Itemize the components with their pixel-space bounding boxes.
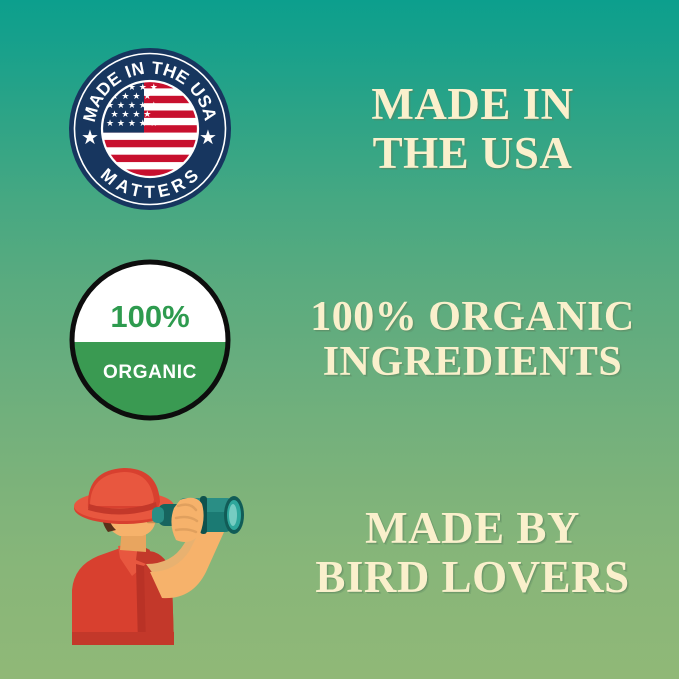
- feature-row-bird-lovers: MADE BY BIRD LOVERS: [0, 455, 679, 650]
- star-right-icon: ★: [199, 125, 217, 149]
- headline-line-1: 100% ORGANIC: [310, 295, 635, 340]
- headline-line-2: INGREDIENTS: [310, 340, 635, 385]
- made-in-usa-icon-slot: ★ ★ ★ ★ ★ ★ ★ ★ ★ ★ ★ ★ ★ ★ ★ ★ ★ ★ ★ ★ …: [0, 47, 300, 211]
- organic-badge-percent: 100%: [110, 299, 189, 334]
- birdwatcher-icon-slot: [0, 460, 300, 645]
- feature-highlights-canvas: ★ ★ ★ ★ ★ ★ ★ ★ ★ ★ ★ ★ ★ ★ ★ ★ ★ ★ ★ ★ …: [0, 0, 679, 679]
- bird-lovers-text-slot: MADE BY BIRD LOVERS: [300, 504, 679, 601]
- feature-row-made-in-usa: ★ ★ ★ ★ ★ ★ ★ ★ ★ ★ ★ ★ ★ ★ ★ ★ ★ ★ ★ ★ …: [0, 34, 679, 224]
- headline-line-1: MADE BY: [315, 504, 629, 553]
- headline-line-2: BIRD LOVERS: [315, 553, 629, 602]
- headline-line-1: MADE IN: [371, 80, 573, 129]
- birdwatcher-icon: [50, 460, 250, 645]
- organic-badge-icon: 100% ORGANIC: [67, 257, 233, 423]
- made-in-usa-badge-icon: ★ ★ ★ ★ ★ ★ ★ ★ ★ ★ ★ ★ ★ ★ ★ ★ ★ ★ ★ ★ …: [68, 47, 232, 211]
- feature-row-organic: 100% ORGANIC 100% ORGANIC INGREDIENTS: [0, 245, 679, 435]
- svg-text:★ ★ ★ ★ ★: ★ ★ ★ ★ ★: [106, 119, 158, 129]
- organic-text-slot: 100% ORGANIC INGREDIENTS: [300, 295, 679, 386]
- star-left-icon: ★: [81, 125, 99, 149]
- headline-organic: 100% ORGANIC INGREDIENTS: [310, 295, 635, 386]
- headline-line-2: THE USA: [371, 129, 573, 178]
- made-in-usa-text-slot: MADE IN THE USA: [300, 80, 679, 177]
- headline-made-in-usa: MADE IN THE USA: [371, 80, 573, 177]
- headline-bird-lovers: MADE BY BIRD LOVERS: [315, 504, 629, 601]
- organic-icon-slot: 100% ORGANIC: [0, 257, 300, 423]
- organic-badge-label: ORGANIC: [103, 362, 197, 383]
